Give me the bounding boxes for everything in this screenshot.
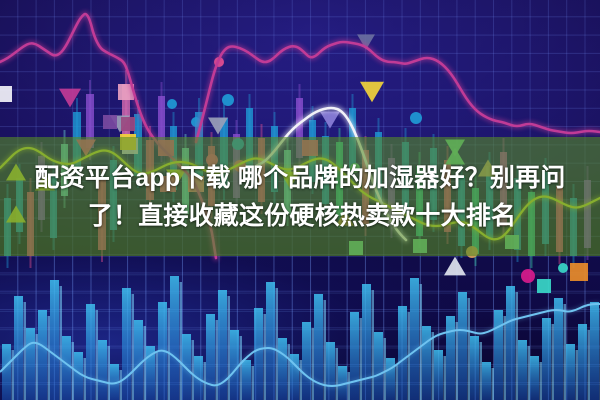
headline-text-block: 配资平台app下载 哪个品牌的加湿器好？别再问 了！直接收藏这份硬核热卖款十大排…	[0, 137, 600, 256]
volume-bar	[350, 312, 359, 400]
volume-bar-wick	[240, 336, 243, 400]
volume-bar-wick	[360, 318, 363, 400]
volume-bar-wick	[288, 344, 291, 400]
marker-triangle-down-icon	[360, 82, 384, 102]
volume-bar-wick	[420, 284, 423, 400]
volume-bar	[470, 336, 479, 400]
volume-bar-wick	[60, 286, 63, 400]
marker-circle-icon	[558, 263, 568, 273]
volume-bar-wick	[516, 292, 519, 400]
volume-bar-wick	[564, 304, 567, 400]
volume-bar-wick	[144, 326, 147, 400]
volume-bar-wick	[120, 370, 123, 400]
volume-bar-wick	[492, 368, 495, 400]
volume-bar	[266, 282, 275, 400]
volume-bar-wick	[468, 298, 471, 400]
volume-bar-wick	[396, 364, 399, 400]
volume-bar-wick	[588, 330, 591, 400]
volume-bar-wick	[480, 342, 483, 400]
headline-line-1: 配资平台app下载 哪个品牌的加湿器好？别再问	[35, 161, 566, 195]
volume-bar	[122, 288, 131, 400]
marker-circle-icon	[521, 269, 535, 283]
headline-line-2: 了！直接收藏这份硬核热卖款十大排名	[84, 199, 516, 233]
marker-square-icon	[103, 115, 117, 129]
volume-bar	[86, 304, 95, 400]
volume-bar	[482, 362, 491, 400]
volume-bar-wick	[576, 350, 579, 400]
volume-bar-wick	[276, 288, 279, 400]
volume-bar	[134, 320, 143, 400]
volume-bar	[242, 360, 251, 400]
volume-bars-group	[2, 276, 600, 400]
marker-square-icon	[121, 117, 135, 131]
volume-bar	[542, 318, 551, 400]
volume-bar-wick	[228, 296, 231, 400]
volume-bar	[590, 302, 599, 400]
volume-bar-wick	[216, 320, 219, 400]
volume-bar	[302, 322, 311, 400]
chart-banner: 配资平台app下载 哪个品牌的加湿器好？别再问 了！直接收藏这份硬核热卖款十大排…	[0, 0, 600, 400]
volume-bar-wick	[252, 366, 255, 400]
volume-bar	[374, 332, 383, 400]
volume-bar-wick	[372, 290, 375, 400]
volume-bar	[362, 284, 371, 400]
volume-bar	[254, 308, 263, 400]
volume-bar	[98, 340, 107, 400]
volume-bar-wick	[24, 302, 27, 400]
volume-bar	[506, 286, 515, 400]
volume-bar-wick	[48, 316, 51, 400]
marker-square-icon	[0, 86, 12, 102]
volume-bar-wick	[540, 362, 543, 400]
volume-bar	[518, 340, 527, 400]
volume-bar-wick	[384, 338, 387, 400]
volume-bar-wick	[132, 294, 135, 400]
volume-bar-wick	[504, 316, 507, 400]
marker-square-icon	[537, 279, 551, 293]
volume-bar-wick	[156, 352, 159, 400]
volume-bar	[386, 358, 395, 400]
price-line-magenta-right	[196, 42, 600, 142]
volume-bar	[398, 306, 407, 400]
volume-bar	[554, 298, 563, 400]
marker-circle-icon	[410, 112, 422, 124]
volume-bar-wick	[312, 328, 315, 400]
volume-bar	[422, 326, 431, 400]
volume-bar-wick	[432, 332, 435, 400]
volume-bar-wick	[552, 324, 555, 400]
volume-bar	[2, 344, 11, 400]
volume-bar	[50, 280, 59, 400]
volume-bar	[206, 314, 215, 400]
marker-square-icon	[570, 263, 588, 281]
marker-triangle-down-icon	[320, 112, 340, 129]
volume-bar-wick	[444, 356, 447, 400]
volume-bar	[458, 292, 467, 400]
volume-bar-wick	[96, 310, 99, 400]
volume-bar-wick	[348, 372, 351, 400]
volume-bar-wick	[84, 358, 87, 400]
volume-bar	[26, 328, 35, 400]
volume-bar	[446, 316, 455, 400]
marker-circle-icon	[222, 94, 234, 106]
volume-bar	[434, 350, 443, 400]
volume-bar	[278, 338, 287, 400]
volume-bar	[410, 278, 419, 400]
volume-bar	[566, 344, 575, 400]
volume-bar	[578, 324, 587, 400]
volume-bar-wick	[528, 346, 531, 400]
volume-bar-wick	[300, 360, 303, 400]
volume-bar	[530, 356, 539, 400]
volume-bar-wick	[108, 346, 111, 400]
volume-bar-wick	[180, 282, 183, 400]
volume-bar	[170, 276, 179, 400]
volume-bar-wick	[264, 314, 267, 400]
volume-bar-wick	[336, 348, 339, 400]
volume-bar-wick	[456, 322, 459, 400]
volume-bar-wick	[192, 340, 195, 400]
marker-circle-icon	[167, 99, 177, 109]
volume-bar	[38, 310, 47, 400]
volume-bar	[326, 342, 335, 400]
volume-bar	[14, 296, 23, 400]
marker-triangle-up-icon	[444, 257, 466, 276]
